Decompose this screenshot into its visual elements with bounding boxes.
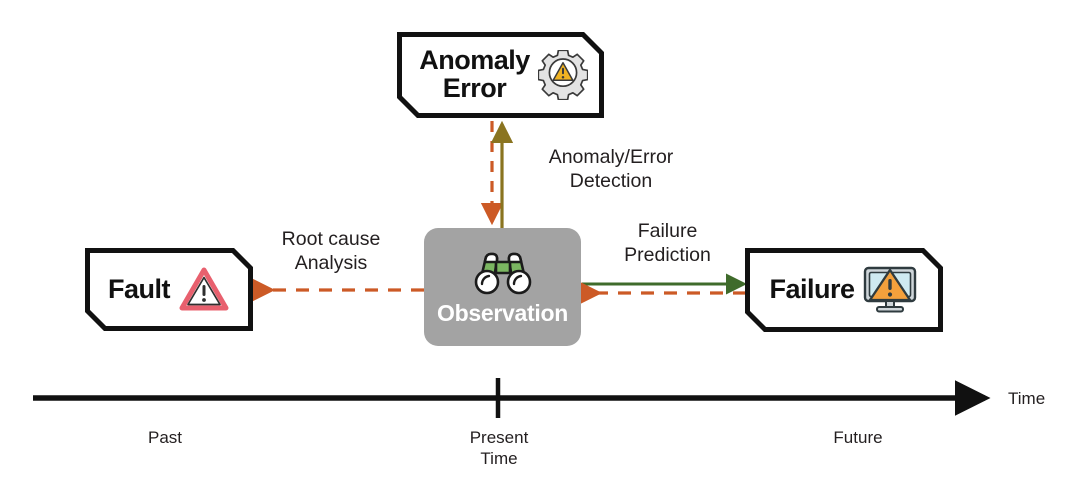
timeline-tick-label-past: Past	[105, 427, 225, 448]
node-anomaly-error[interactable]: Anomaly Error	[397, 32, 604, 118]
gear-warning-icon	[538, 50, 588, 100]
timeline-tick-label-present: Present Time	[439, 427, 559, 470]
node-anomaly-error-label: Anomaly Error	[419, 47, 530, 102]
edge-label-failure-prediction: Failure Prediction	[600, 220, 735, 268]
monitor-warning-icon	[861, 264, 919, 316]
timeline-tick-label-future: Future	[798, 427, 918, 448]
node-observation[interactable]: Observation	[424, 228, 581, 346]
node-failure-label: Failure	[769, 276, 854, 304]
edge-label-anomaly-error-detection: Anomaly/Error Detection	[516, 146, 706, 194]
node-failure[interactable]: Failure	[745, 248, 943, 332]
timeline-axis-label: Time	[1008, 388, 1078, 409]
binoculars-icon	[470, 248, 536, 298]
node-fault[interactable]: Fault	[85, 248, 253, 331]
node-observation-label: Observation	[437, 300, 568, 327]
edge-label-root-cause-analysis: Root cause Analysis	[251, 228, 411, 276]
node-fault-label: Fault	[108, 276, 170, 304]
warning-triangle-icon	[178, 265, 230, 315]
diagram-canvas: Anomaly Error Fault	[0, 0, 1080, 480]
